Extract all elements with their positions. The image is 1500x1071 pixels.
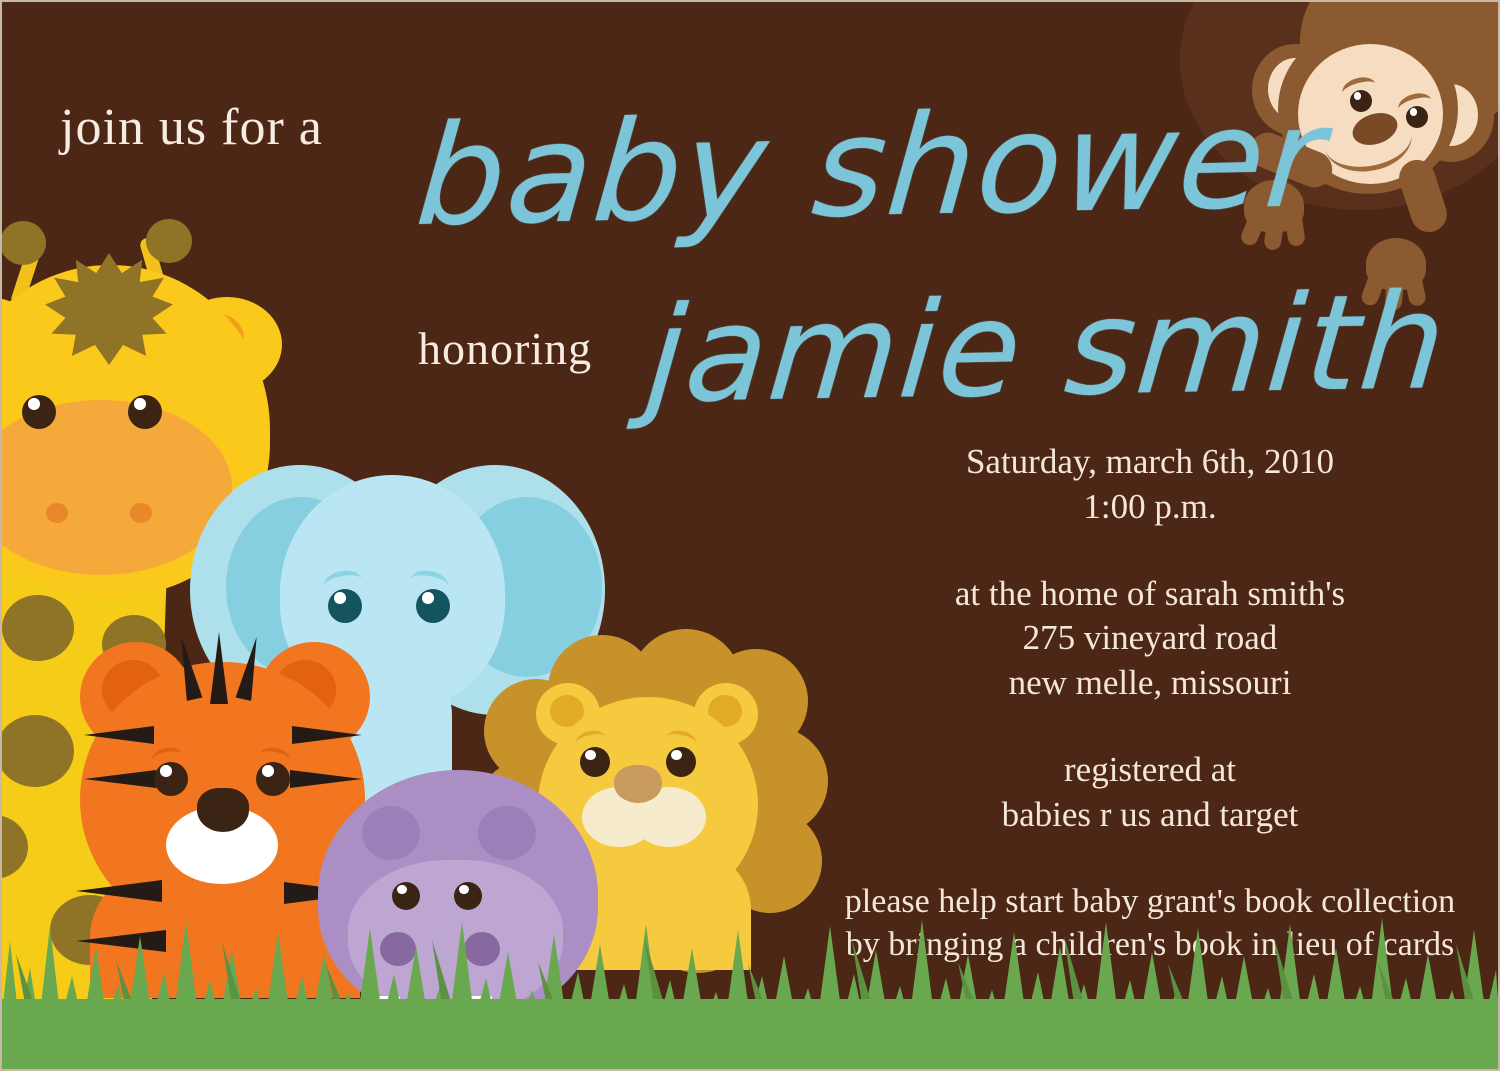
where-group: at the home of sarah smith's 275 vineyar…	[820, 572, 1480, 706]
honoring-label: honoring	[418, 322, 592, 375]
giraffe-nostril-right	[130, 503, 152, 523]
registry-group: registered at babies r us and target	[820, 748, 1480, 838]
registry-stores: babies r us and target	[820, 793, 1480, 838]
grass-base	[0, 999, 1500, 1071]
giraffe-eye-left	[22, 395, 56, 429]
monkey-arm-right	[1394, 155, 1451, 237]
intro-text: join us for a	[60, 98, 323, 157]
title-baby-shower: baby shower	[412, 89, 1331, 246]
hippo-ear-right	[478, 806, 536, 860]
event-street: 275 vineyard road	[820, 616, 1480, 661]
lion-eye-right	[666, 747, 696, 777]
tiger-eye-left	[154, 762, 188, 796]
invitation-card: join us for a baby shower honoring jamie…	[0, 0, 1500, 1071]
details-block: Saturday, march 6th, 2010 1:00 p.m. at t…	[820, 440, 1480, 967]
event-venue: at the home of sarah smith's	[820, 572, 1480, 617]
elephant-eye-right	[416, 589, 450, 623]
honoree-name: jamie smith	[642, 276, 1452, 422]
giraffe-ossicone-ball-left	[0, 221, 46, 265]
when-group: Saturday, march 6th, 2010 1:00 p.m.	[820, 440, 1480, 530]
giraffe-spot-1	[2, 595, 74, 661]
hippo-ear-left	[362, 806, 420, 860]
elephant-eye-left	[328, 589, 362, 623]
grass-foreground	[0, 906, 1500, 1071]
event-date: Saturday, march 6th, 2010	[820, 440, 1480, 485]
tiger-eye-right	[256, 762, 290, 796]
registry-label: registered at	[820, 748, 1480, 793]
lion-nose	[614, 765, 662, 803]
giraffe-eye-right	[128, 395, 162, 429]
giraffe-nostril-left	[46, 503, 68, 523]
giraffe-ossicone-ball-right	[146, 219, 192, 263]
tiger-nose	[197, 788, 249, 832]
event-time: 1:00 p.m.	[820, 485, 1480, 530]
event-city-state: new melle, missouri	[820, 661, 1480, 706]
